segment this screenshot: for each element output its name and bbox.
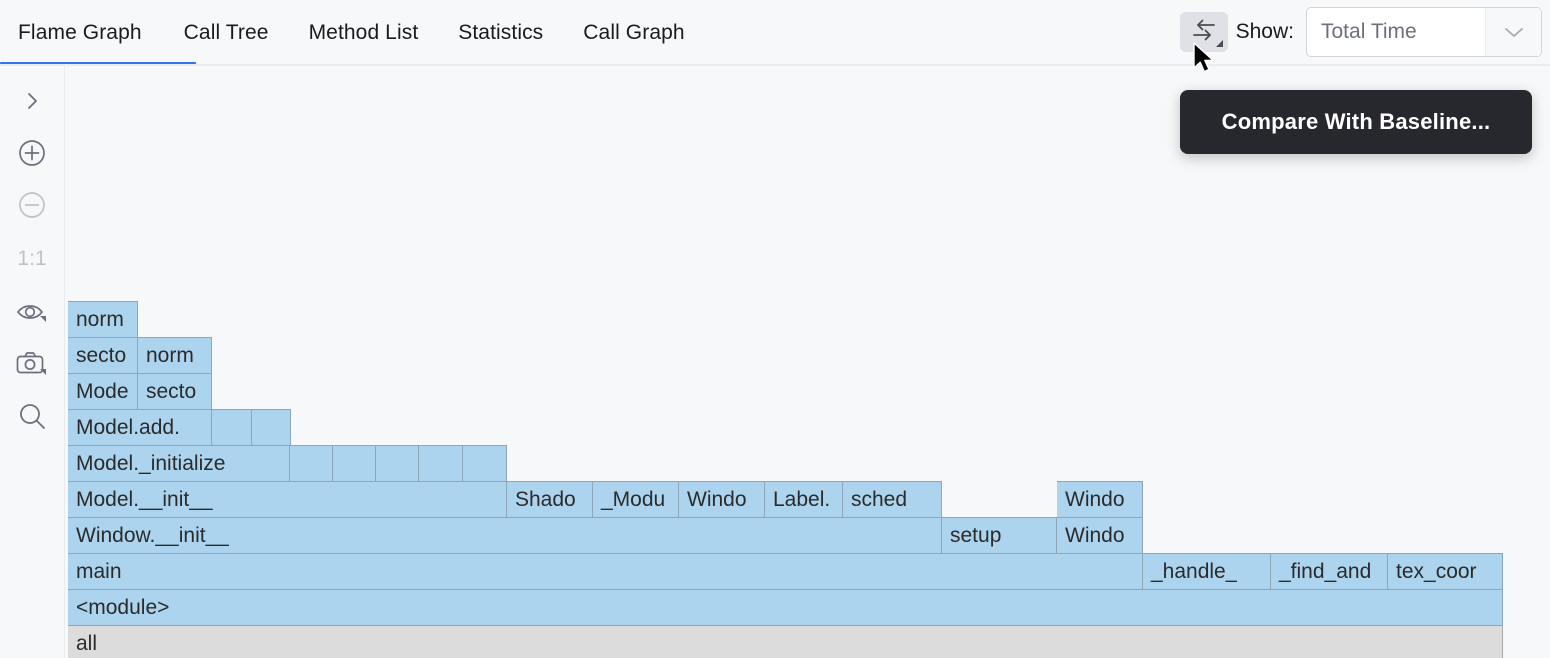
flame-frame-label: Windo: [1057, 524, 1125, 548]
zoom-out-icon: [17, 190, 47, 225]
flame-frame[interactable]: [252, 409, 291, 445]
flame-frame[interactable]: Windo: [1057, 517, 1143, 553]
flame-frame-label: sched: [843, 488, 907, 512]
flame-frame-label: Windo: [679, 488, 747, 512]
flame-frame-label: Model.__init__: [68, 488, 213, 512]
flame-frame-label: <module>: [68, 596, 169, 620]
flame-frame-label: Model._initialize: [68, 452, 225, 476]
zoom-in-icon: [17, 138, 47, 173]
flame-frame[interactable]: Shado: [507, 481, 593, 517]
flame-frame[interactable]: Label.: [765, 481, 843, 517]
flame-frame[interactable]: norm: [138, 337, 212, 373]
flame-frame-label: tex_coor: [1388, 560, 1477, 584]
flame-frame[interactable]: [419, 445, 463, 481]
tooltip-text: Compare With Baseline...: [1222, 109, 1491, 135]
flame-frame[interactable]: _find_and: [1271, 553, 1388, 589]
eye-icon: [15, 299, 49, 330]
flame-frame[interactable]: <module>: [68, 589, 1503, 625]
flame-frame[interactable]: _handle_: [1143, 553, 1271, 589]
tab-method-list-label: Method List: [309, 21, 419, 44]
tab-call-graph[interactable]: Call Graph: [563, 1, 704, 65]
flame-frame[interactable]: secto: [68, 337, 138, 373]
show-metric-combobox[interactable]: Total Time: [1306, 7, 1542, 57]
flame-frame[interactable]: Model.__init__: [68, 481, 507, 517]
flame-frame[interactable]: all: [68, 625, 1503, 658]
sidebar-item-expand[interactable]: [0, 80, 64, 126]
flame-frame-label: _handle_: [1143, 560, 1237, 584]
flame-frame-label: Label.: [765, 488, 830, 512]
flame-frame[interactable]: [376, 445, 419, 481]
flame-frame-label: Shado: [507, 488, 576, 512]
flame-frame[interactable]: sched: [843, 481, 942, 517]
camera-icon: [15, 350, 49, 383]
search-icon: [17, 401, 47, 436]
flame-frame[interactable]: [463, 445, 507, 481]
flame-frame-label: Mode: [68, 380, 129, 404]
flame-frame[interactable]: Window.__init__: [68, 517, 942, 553]
flame-frame[interactable]: Windo: [1057, 481, 1143, 517]
tab-flame-graph[interactable]: Flame Graph: [0, 1, 164, 65]
tooltip: Compare With Baseline...: [1180, 90, 1532, 154]
flame-frame-label: main: [68, 560, 122, 584]
toolbar-right-group: Show: Total Time: [1180, 0, 1542, 64]
flame-frame[interactable]: tex_coor: [1388, 553, 1503, 589]
tab-call-tree[interactable]: Call Tree: [164, 1, 289, 65]
flame-frame-label: secto: [68, 344, 126, 368]
show-label: Show:: [1236, 20, 1294, 44]
flame-frame-label: Windo: [1057, 488, 1125, 512]
profiler-flame-graph-view: Flame Graph Call Tree Method List Statis…: [0, 0, 1550, 658]
flame-frame-label: norm: [68, 308, 124, 332]
chevron-down-icon[interactable]: [1485, 8, 1541, 56]
flame-frame[interactable]: secto: [138, 373, 212, 409]
flame-frame[interactable]: _Modu: [593, 481, 679, 517]
flame-frame-label: _Modu: [593, 488, 665, 512]
tab-method-list[interactable]: Method List: [289, 1, 439, 65]
tab-call-graph-label: Call Graph: [583, 21, 684, 44]
flame-frame[interactable]: Mode: [68, 373, 138, 409]
actual-size-label: 1:1: [17, 247, 46, 271]
sidebar-item-actual-size[interactable]: 1:1: [0, 236, 64, 282]
view-tabs: Flame Graph Call Tree Method List Statis…: [0, 0, 705, 66]
sidebar-item-zoom-out[interactable]: [0, 184, 64, 230]
flame-frame[interactable]: [290, 445, 333, 481]
flame-frame[interactable]: norm: [68, 301, 138, 337]
sidebar-item-search[interactable]: [0, 395, 64, 441]
expand-chevron-icon: [21, 90, 43, 117]
flame-frame[interactable]: Model._initialize: [68, 445, 290, 481]
flame-frame-label: secto: [138, 380, 196, 404]
flame-frame-label: Model.add.: [68, 416, 180, 440]
flame-frame[interactable]: main: [68, 553, 1143, 589]
flame-frame-label: Window.__init__: [68, 524, 229, 548]
sidebar-item-screenshot[interactable]: [0, 343, 64, 389]
flame-frame[interactable]: Model.add.: [68, 409, 212, 445]
sidebar-item-visibility[interactable]: [0, 291, 64, 337]
flame-frame-label: all: [68, 632, 97, 656]
mouse-cursor: [1192, 42, 1218, 81]
flame-graph-toolbar-rail: 1:1: [0, 66, 65, 658]
tab-flame-graph-label: Flame Graph: [18, 21, 142, 44]
sidebar-item-zoom-in[interactable]: [0, 132, 64, 178]
flame-graph-canvas[interactable]: normsectonormModesectoModel.add.Model._i…: [66, 66, 1550, 658]
flame-frame[interactable]: Windo: [679, 481, 765, 517]
flame-frame[interactable]: [333, 445, 376, 481]
tab-statistics[interactable]: Statistics: [438, 1, 563, 65]
tab-statistics-label: Statistics: [458, 21, 543, 44]
tab-call-tree-label: Call Tree: [184, 21, 269, 44]
show-metric-value: Total Time: [1307, 20, 1485, 44]
flame-frame-label: norm: [138, 344, 194, 368]
flame-frame[interactable]: setup: [942, 517, 1057, 553]
flame-frame-label: setup: [942, 524, 1001, 548]
flame-frame-label: _find_and: [1271, 560, 1371, 584]
toolbar: Flame Graph Call Tree Method List Statis…: [0, 0, 1550, 66]
flame-frame[interactable]: [212, 409, 252, 445]
